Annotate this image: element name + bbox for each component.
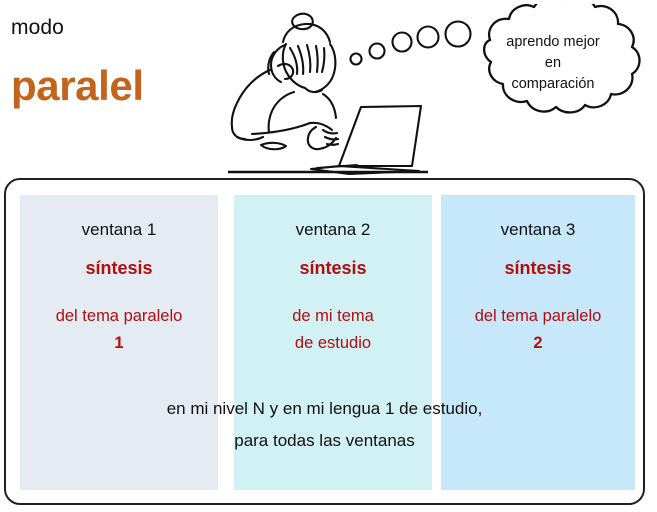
window-panel-1-body: del tema paralelo 1	[20, 303, 218, 357]
mode-label: modo	[11, 16, 64, 40]
window-panel-3-body: del tema paralelo 2	[441, 303, 635, 357]
window-panel-3-title: ventana 3	[441, 220, 635, 240]
window-panel-1-title: ventana 1	[20, 220, 218, 240]
window-panel-2-body: de mi tema de estudio	[234, 303, 432, 357]
thought-line-1: aprendo mejor	[462, 32, 644, 53]
header-area: modo paralel	[0, 0, 657, 178]
footer-note-line-1: en mi nivel N y en mi lengua 1 de estudi…	[4, 393, 645, 425]
window-panel-3-body-line-2: 2	[441, 330, 635, 357]
thought-bubble-text: aprendo mejor en comparación	[462, 32, 644, 95]
footer-note-line-2: para todas las ventanas	[4, 425, 645, 457]
window-panel-3-heading: síntesis	[441, 258, 635, 279]
window-panel-1-heading: síntesis	[20, 258, 218, 279]
thought-line-3: comparación	[462, 74, 644, 95]
mode-name: paralel	[11, 62, 144, 110]
window-panel-2-body-line-1: de mi tema	[234, 303, 432, 330]
window-panel-2-body-line-2: de estudio	[234, 330, 432, 357]
window-panel-1-body-line-2: 1	[20, 330, 218, 357]
window-panel-3-body-line-1: del tema paralelo	[441, 303, 635, 330]
window-panel-2-heading: síntesis	[234, 258, 432, 279]
thought-line-2: en	[462, 53, 644, 74]
footer-note: en mi nivel N y en mi lengua 1 de estudi…	[4, 393, 645, 457]
window-panel-1-body-line-1: del tema paralelo	[20, 303, 218, 330]
window-panel-2-title: ventana 2	[234, 220, 432, 240]
